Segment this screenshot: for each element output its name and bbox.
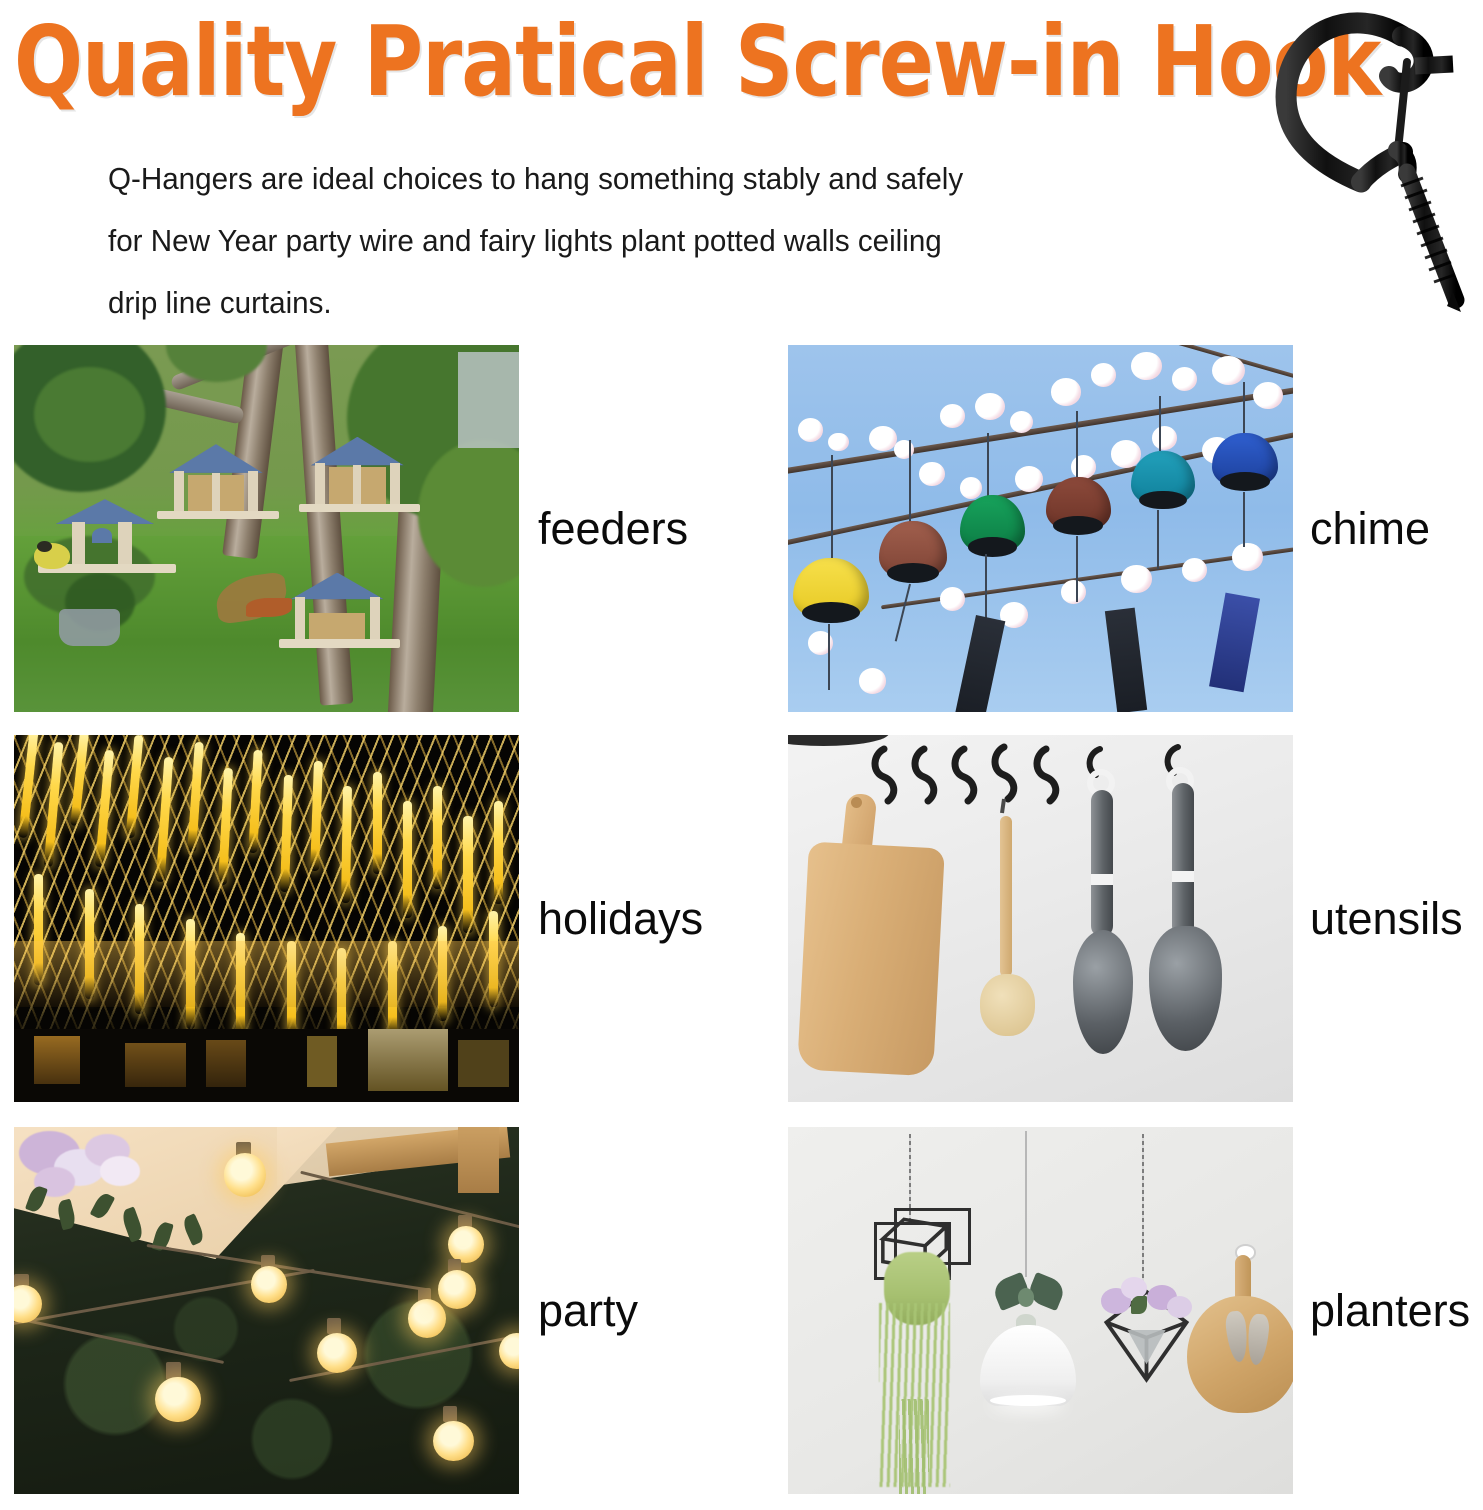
gallery-label-planters: planters: [1310, 1120, 1470, 1501]
gallery-label-holidays: holidays: [538, 728, 703, 1109]
gallery-label-party: party: [538, 1120, 638, 1501]
meteor-lights-photo: [14, 735, 519, 1102]
gallery-cell-holidays: holidays: [0, 728, 741, 1118]
wind-chimes-photo: [788, 345, 1293, 712]
gallery-cell-chime: chime: [742, 338, 1483, 728]
hanging-decor-photo: [788, 1127, 1293, 1494]
product-description: Q-Hangers are ideal choices to hang some…: [108, 148, 1146, 334]
gallery-cell-utensils: utensils: [742, 728, 1483, 1118]
gallery-cell-feeders: feeders: [0, 338, 741, 728]
description-line-1: Q-Hangers are ideal choices to hang some…: [108, 148, 1146, 210]
description-line-2: for New Year party wire and fairy lights…: [108, 210, 1146, 272]
gallery-row: party: [0, 1120, 1483, 1510]
kitchen-tools-photo: [788, 735, 1293, 1102]
gallery-cell-planters: planters: [742, 1120, 1483, 1510]
gallery-row: holidays: [0, 728, 1483, 1118]
gallery-row: feeders: [0, 338, 1483, 728]
description-line-3: drip line curtains.: [108, 272, 1146, 334]
screw-in-hook-icon: [1257, 0, 1477, 318]
gallery-label-utensils: utensils: [1310, 728, 1463, 1109]
globe-lights-photo: [14, 1127, 519, 1494]
use-case-gallery: feeders: [0, 330, 1483, 1500]
gallery-cell-party: party: [0, 1120, 741, 1510]
gallery-label-chime: chime: [1310, 338, 1430, 719]
bird-feeders-photo: [14, 345, 519, 712]
header-banner: Quality Pratical Screw-in Hook Q-Hangers…: [0, 0, 1483, 330]
gallery-label-feeders: feeders: [538, 338, 688, 719]
page-title: Quality Pratical Screw-in Hook: [14, 8, 1195, 116]
